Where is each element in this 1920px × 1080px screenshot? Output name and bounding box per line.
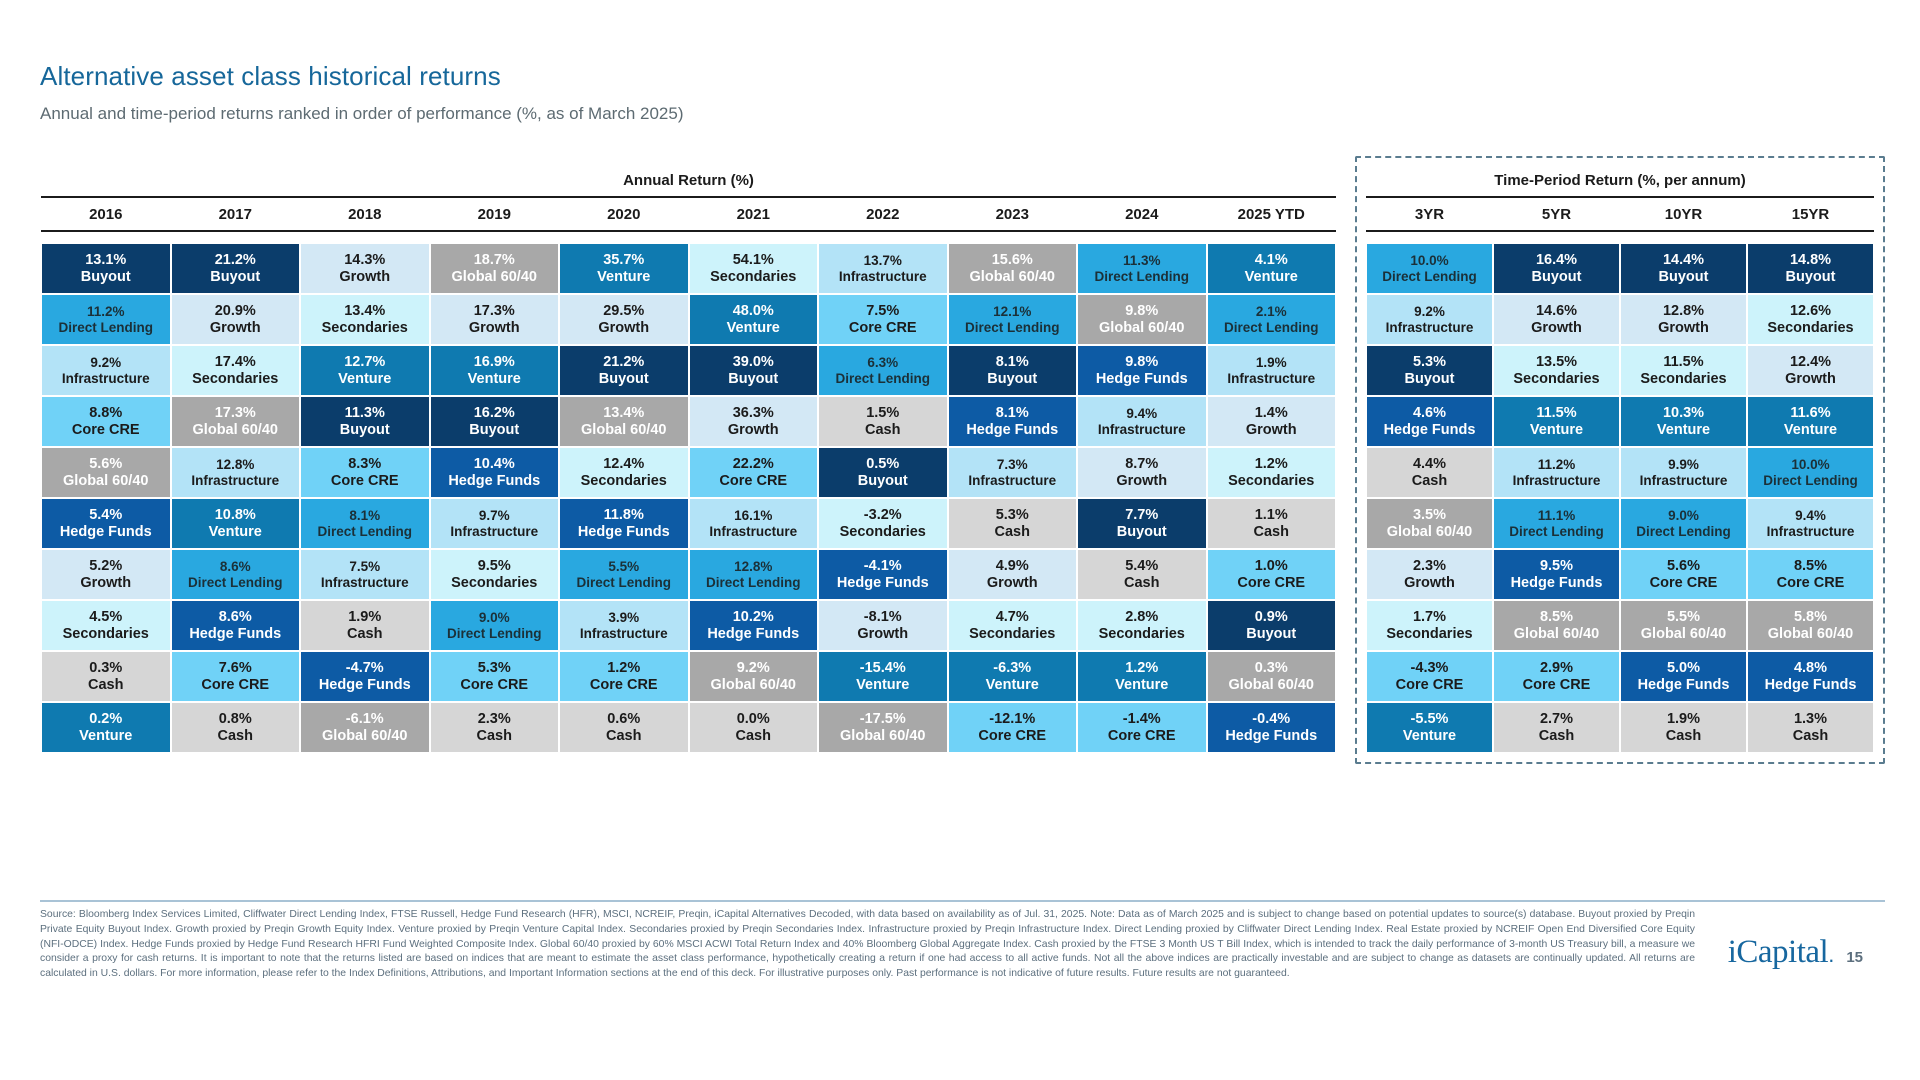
return-cell-2018-core-cre: 8.3%Core CRE [300, 447, 430, 498]
cell-value: 7.5% [302, 559, 428, 574]
return-cell-2018-infrastructure: 7.5%Infrastructure [300, 549, 430, 600]
cell-value: -6.3% [950, 660, 1076, 677]
return-cell-2017-global-60-40: 17.3%Global 60/40 [171, 396, 301, 447]
cell-value: 8.7% [1079, 456, 1205, 473]
cell-value: -6.1% [302, 711, 428, 728]
cell-asset-label: Growth [561, 320, 687, 337]
cell-value: 8.1% [950, 405, 1076, 422]
return-cell-2016-growth: 5.2%Growth [41, 549, 171, 600]
return-cell-2023-direct-lending: 12.1%Direct Lending [948, 294, 1078, 345]
return-cell-2025-ytd-global-60-40: 0.3%Global 60/40 [1207, 651, 1337, 702]
cell-value: 1.1% [1209, 507, 1335, 524]
cell-asset-label: Secondaries [820, 524, 946, 541]
return-cell-2016-venture: 0.2%Venture [41, 702, 171, 753]
cell-value: 5.6% [1622, 558, 1745, 575]
return-cell-2020-infrastructure: 3.9%Infrastructure [559, 600, 689, 651]
cell-asset-label: Infrastructure [173, 473, 299, 488]
return-cell-2024-venture: 1.2%Venture [1077, 651, 1207, 702]
cell-asset-label: Buyout [691, 371, 817, 388]
cell-value: 12.6% [1749, 303, 1872, 320]
cell-asset-label: Cash [302, 626, 428, 643]
return-cell-2020-venture: 35.7%Venture [559, 243, 689, 294]
cell-value: 1.3% [1749, 711, 1872, 728]
cell-asset-label: Core CRE [820, 320, 946, 337]
return-cell-2017-growth: 20.9%Growth [171, 294, 301, 345]
cell-value: 1.2% [1209, 456, 1335, 473]
cell-asset-label: Direct Lending [1749, 473, 1872, 488]
return-cell-3yr-infrastructure: 9.2%Infrastructure [1366, 294, 1493, 345]
return-cell-2021-infrastructure: 16.1%Infrastructure [689, 498, 819, 549]
return-cell-2024-direct-lending: 11.3%Direct Lending [1077, 243, 1207, 294]
cell-asset-label: Core CRE [1622, 575, 1745, 592]
spacer-cell [1366, 231, 1874, 243]
cell-value: 12.8% [1622, 303, 1745, 320]
cell-asset-label: Buyout [43, 269, 169, 286]
cell-asset-label: Growth [432, 320, 558, 337]
cell-value: 6.3% [820, 355, 946, 370]
return-cell-2025-ytd-growth: 1.4%Growth [1207, 396, 1337, 447]
cell-asset-label: Core CRE [1368, 677, 1491, 694]
return-cell-2021-direct-lending: 12.8%Direct Lending [689, 549, 819, 600]
return-cell-2018-secondaries: 13.4%Secondaries [300, 294, 430, 345]
cell-asset-label: Direct Lending [43, 320, 169, 335]
cell-value: 4.4% [1368, 456, 1491, 473]
cell-asset-label: Venture [1079, 677, 1205, 694]
cell-asset-label: Venture [43, 728, 169, 745]
cell-value: 12.4% [561, 456, 687, 473]
spacer-cell [41, 231, 1336, 243]
return-cell-2025-ytd-secondaries: 1.2%Secondaries [1207, 447, 1337, 498]
tables-container: Annual Return (%) 2016201720182019202020… [40, 172, 1885, 764]
return-cell-2021-global-60-40: 9.2%Global 60/40 [689, 651, 819, 702]
return-cell-2020-cash: 0.6%Cash [559, 702, 689, 753]
cell-asset-label: Venture [1209, 269, 1335, 286]
cell-asset-label: Cash [1749, 728, 1872, 745]
return-cell-2018-cash: 1.9%Cash [300, 600, 430, 651]
return-cell-2025-ytd-cash: 1.1%Cash [1207, 498, 1337, 549]
table-row: 5.3%Buyout13.5%Secondaries11.5%Secondari… [1366, 345, 1874, 396]
cell-asset-label: Growth [950, 575, 1076, 592]
cell-value: 1.2% [561, 660, 687, 677]
cell-asset-label: Venture [1495, 422, 1618, 439]
return-cell-2025-ytd-buyout: 0.9%Buyout [1207, 600, 1337, 651]
cell-value: 21.2% [173, 252, 299, 269]
cell-value: 9.0% [1622, 508, 1745, 523]
cell-value: 9.4% [1749, 508, 1872, 523]
return-cell-2022-core-cre: 7.5%Core CRE [818, 294, 948, 345]
cell-asset-label: Growth [820, 626, 946, 643]
cell-value: 5.6% [43, 456, 169, 473]
column-header-2024: 2024 [1077, 197, 1207, 231]
cell-asset-label: Venture [1368, 728, 1491, 745]
cell-asset-label: Venture [1749, 422, 1872, 439]
cell-asset-label: Infrastructure [1079, 422, 1205, 437]
cell-value: 39.0% [691, 354, 817, 371]
cell-value: -12.1% [950, 711, 1076, 728]
cell-asset-label: Secondaries [1749, 320, 1872, 337]
return-cell-2025-ytd-direct-lending: 2.1%Direct Lending [1207, 294, 1337, 345]
cell-asset-label: Infrastructure [950, 473, 1076, 488]
cell-value: 5.4% [43, 507, 169, 524]
cell-asset-label: Venture [1622, 422, 1745, 439]
column-header-2022: 2022 [818, 197, 948, 231]
return-cell-2020-global-60-40: 13.4%Global 60/40 [559, 396, 689, 447]
return-cell-2019-cash: 2.3%Cash [430, 702, 560, 753]
return-cell-2022-global-60-40: -17.5%Global 60/40 [818, 702, 948, 753]
header: Alternative asset class historical retur… [40, 62, 684, 123]
cell-asset-label: Buyout [1079, 524, 1205, 541]
cell-value: -4.1% [820, 558, 946, 575]
header-spacer-row [41, 231, 1336, 243]
table-row: 11.2%Direct Lending20.9%Growth13.4%Secon… [41, 294, 1336, 345]
return-cell-2023-growth: 4.9%Growth [948, 549, 1078, 600]
table-row: 9.2%Infrastructure17.4%Secondaries12.7%V… [41, 345, 1336, 396]
return-cell-3yr-cash: 4.4%Cash [1366, 447, 1493, 498]
cell-asset-label: Infrastructure [1368, 320, 1491, 335]
return-cell-2022-buyout: 0.5%Buyout [818, 447, 948, 498]
cell-asset-label: Growth [1209, 422, 1335, 439]
column-header-3yr: 3YR [1366, 197, 1493, 231]
return-cell-3yr-global-60-40: 3.5%Global 60/40 [1366, 498, 1493, 549]
annual-header-row: 2016201720182019202020212022202320242025… [41, 197, 1336, 231]
table-row: 5.2%Growth8.6%Direct Lending7.5%Infrastr… [41, 549, 1336, 600]
footer-divider [40, 900, 1885, 902]
column-header-2017: 2017 [171, 197, 301, 231]
return-cell-2017-cash: 0.8%Cash [171, 702, 301, 753]
cell-value: 1.9% [1622, 711, 1745, 728]
cell-value: 11.2% [1495, 457, 1618, 472]
return-cell-2020-growth: 29.5%Growth [559, 294, 689, 345]
cell-value: 9.9% [1622, 457, 1745, 472]
cell-value: 5.0% [1622, 660, 1745, 677]
column-header-2021: 2021 [689, 197, 819, 231]
cell-asset-label: Venture [432, 371, 558, 388]
cell-asset-label: Growth [302, 269, 428, 286]
cell-asset-label: Growth [1079, 473, 1205, 490]
return-cell-2024-hedge-funds: 9.8%Hedge Funds [1077, 345, 1207, 396]
cell-value: -4.3% [1368, 660, 1491, 677]
cell-asset-label: Global 60/40 [1209, 677, 1335, 694]
cell-asset-label: Growth [173, 320, 299, 337]
cell-asset-label: Growth [691, 422, 817, 439]
cell-value: 20.9% [173, 303, 299, 320]
cell-value: 11.3% [1079, 253, 1205, 268]
cell-value: 2.1% [1209, 304, 1335, 319]
cell-value: 3.9% [561, 610, 687, 625]
return-cell-2019-infrastructure: 9.7%Infrastructure [430, 498, 560, 549]
cell-value: 2.3% [432, 711, 558, 728]
cell-asset-label: Global 60/40 [1749, 626, 1872, 643]
cell-value: 7.3% [950, 457, 1076, 472]
return-cell-2022-venture: -15.4%Venture [818, 651, 948, 702]
cell-value: 10.4% [432, 456, 558, 473]
cell-asset-label: Core CRE [43, 422, 169, 439]
table-row: -5.5%Venture2.7%Cash1.9%Cash1.3%Cash [1366, 702, 1874, 753]
page-number: 15 [1846, 949, 1863, 966]
return-cell-2017-direct-lending: 8.6%Direct Lending [171, 549, 301, 600]
cell-value: 4.1% [1209, 252, 1335, 269]
cell-value: 9.0% [432, 610, 558, 625]
cell-asset-label: Infrastructure [820, 269, 946, 284]
cell-value: 48.0% [691, 303, 817, 320]
cell-value: 12.8% [173, 457, 299, 472]
cell-value: 0.9% [1209, 609, 1335, 626]
cell-value: -4.7% [302, 660, 428, 677]
return-cell-3yr-core-cre: -4.3%Core CRE [1366, 651, 1493, 702]
cell-asset-label: Secondaries [691, 269, 817, 286]
cell-asset-label: Hedge Funds [43, 524, 169, 541]
return-cell-2022-secondaries: -3.2%Secondaries [818, 498, 948, 549]
cell-asset-label: Direct Lending [302, 524, 428, 539]
cell-asset-label: Global 60/40 [691, 677, 817, 694]
cell-value: -8.1% [820, 609, 946, 626]
return-cell-2020-hedge-funds: 11.8%Hedge Funds [559, 498, 689, 549]
cell-value: 9.2% [691, 660, 817, 677]
return-cell-2020-core-cre: 1.2%Core CRE [559, 651, 689, 702]
cell-asset-label: Infrastructure [691, 524, 817, 539]
return-cell-15yr-global-60-40: 5.8%Global 60/40 [1747, 600, 1874, 651]
cell-asset-label: Cash [561, 728, 687, 745]
return-cell-5yr-secondaries: 13.5%Secondaries [1493, 345, 1620, 396]
cell-asset-label: Infrastructure [302, 575, 428, 590]
cell-asset-label: Cash [1209, 524, 1335, 541]
cell-asset-label: Hedge Funds [1368, 422, 1491, 439]
return-cell-2023-global-60-40: 15.6%Global 60/40 [948, 243, 1078, 294]
cell-asset-label: Global 60/40 [302, 728, 428, 745]
cell-asset-label: Global 60/40 [950, 269, 1076, 286]
cell-value: 8.1% [302, 508, 428, 523]
time-period-return-heading: Time-Period Return (%, per annum) [1365, 164, 1875, 196]
return-cell-2016-buyout: 13.1%Buyout [41, 243, 171, 294]
return-cell-2022-infrastructure: 13.7%Infrastructure [818, 243, 948, 294]
table-row: 0.3%Cash7.6%Core CRE-4.7%Hedge Funds5.3%… [41, 651, 1336, 702]
return-cell-2022-cash: 1.5%Cash [818, 396, 948, 447]
cell-asset-label: Core CRE [1079, 728, 1205, 745]
cell-value: 7.5% [820, 303, 946, 320]
cell-value: 12.7% [302, 354, 428, 371]
column-header-2019: 2019 [430, 197, 560, 231]
return-cell-2023-infrastructure: 7.3%Infrastructure [948, 447, 1078, 498]
cell-asset-label: Buyout [1495, 269, 1618, 286]
cell-value: 10.0% [1368, 253, 1491, 268]
column-header-2018: 2018 [300, 197, 430, 231]
cell-value: 0.5% [820, 456, 946, 473]
cell-value: 11.6% [1749, 405, 1872, 422]
cell-value: 9.2% [1368, 304, 1491, 319]
cell-value: 5.3% [950, 507, 1076, 524]
cell-value: 1.2% [1079, 660, 1205, 677]
return-cell-5yr-direct-lending: 11.1%Direct Lending [1493, 498, 1620, 549]
return-cell-2017-secondaries: 17.4%Secondaries [171, 345, 301, 396]
cell-asset-label: Hedge Funds [1079, 371, 1205, 388]
cell-value: 14.8% [1749, 252, 1872, 269]
cell-asset-label: Infrastructure [1495, 473, 1618, 488]
cell-asset-label: Direct Lending [173, 575, 299, 590]
icapital-logo: iCapital [1728, 936, 1828, 969]
return-cell-10yr-buyout: 14.4%Buyout [1620, 243, 1747, 294]
cell-value: 11.3% [302, 405, 428, 422]
cell-asset-label: Core CRE [1209, 575, 1335, 592]
cell-value: 35.7% [561, 252, 687, 269]
return-cell-2019-secondaries: 9.5%Secondaries [430, 549, 560, 600]
cell-value: 10.3% [1622, 405, 1745, 422]
return-cell-2019-core-cre: 5.3%Core CRE [430, 651, 560, 702]
cell-value: 12.8% [691, 559, 817, 574]
cell-value: 22.2% [691, 456, 817, 473]
return-cell-5yr-buyout: 16.4%Buyout [1493, 243, 1620, 294]
cell-asset-label: Global 60/40 [1495, 626, 1618, 643]
cell-value: 14.6% [1495, 303, 1618, 320]
cell-value: 8.5% [1495, 609, 1618, 626]
cell-value: 1.7% [1368, 609, 1491, 626]
column-header-2020: 2020 [559, 197, 689, 231]
return-cell-2024-global-60-40: 9.8%Global 60/40 [1077, 294, 1207, 345]
period-table-body: 10.0%Direct Lending16.4%Buyout14.4%Buyou… [1366, 231, 1874, 753]
cell-asset-label: Growth [43, 575, 169, 592]
return-cell-2024-core-cre: -1.4%Core CRE [1077, 702, 1207, 753]
cell-value: 0.3% [43, 660, 169, 677]
cell-value: 1.5% [820, 405, 946, 422]
table-row: 13.1%Buyout21.2%Buyout14.3%Growth18.7%Gl… [41, 243, 1336, 294]
cell-asset-label: Core CRE [1749, 575, 1872, 592]
cell-value: 15.6% [950, 252, 1076, 269]
cell-value: 13.5% [1495, 354, 1618, 371]
return-cell-2017-infrastructure: 12.8%Infrastructure [171, 447, 301, 498]
cell-value: 3.5% [1368, 507, 1491, 524]
cell-value: -3.2% [820, 507, 946, 524]
cell-value: -15.4% [820, 660, 946, 677]
cell-value: 11.5% [1495, 405, 1618, 422]
cell-asset-label: Secondaries [1368, 626, 1491, 643]
cell-value: 5.2% [43, 558, 169, 575]
cell-value: -0.4% [1209, 711, 1335, 728]
return-cell-2018-growth: 14.3%Growth [300, 243, 430, 294]
return-cell-2023-venture: -6.3%Venture [948, 651, 1078, 702]
return-cell-2018-buyout: 11.3%Buyout [300, 396, 430, 447]
cell-value: 1.9% [1209, 355, 1335, 370]
cell-asset-label: Buyout [561, 371, 687, 388]
cell-asset-label: Venture [950, 677, 1076, 694]
return-cell-2025-ytd-infrastructure: 1.9%Infrastructure [1207, 345, 1337, 396]
cell-value: 16.1% [691, 508, 817, 523]
cell-asset-label: Cash [950, 524, 1076, 541]
cell-value: 13.4% [302, 303, 428, 320]
cell-value: 0.6% [561, 711, 687, 728]
cell-value: 5.8% [1749, 609, 1872, 626]
return-cell-5yr-venture: 11.5%Venture [1493, 396, 1620, 447]
cell-value: 12.4% [1749, 354, 1872, 371]
return-cell-2023-cash: 5.3%Cash [948, 498, 1078, 549]
footer-content: Source: Bloomberg Index Services Limited… [40, 908, 1885, 982]
cell-value: 5.3% [1368, 354, 1491, 371]
cell-asset-label: Direct Lending [1368, 269, 1491, 284]
cell-value: 14.4% [1622, 252, 1745, 269]
cell-asset-label: Venture [302, 371, 428, 388]
return-cell-10yr-venture: 10.3%Venture [1620, 396, 1747, 447]
return-cell-10yr-direct-lending: 9.0%Direct Lending [1620, 498, 1747, 549]
cell-value: 9.8% [1079, 303, 1205, 320]
cell-asset-label: Global 60/40 [43, 473, 169, 490]
cell-asset-label: Secondaries [173, 371, 299, 388]
return-cell-10yr-secondaries: 11.5%Secondaries [1620, 345, 1747, 396]
cell-asset-label: Cash [691, 728, 817, 745]
cell-value: -1.4% [1079, 711, 1205, 728]
cell-value: 1.9% [302, 609, 428, 626]
return-cell-2024-growth: 8.7%Growth [1077, 447, 1207, 498]
return-cell-15yr-growth: 12.4%Growth [1747, 345, 1874, 396]
cell-asset-label: Cash [820, 422, 946, 439]
cell-value: 12.1% [950, 304, 1076, 319]
cell-value: 9.5% [1495, 558, 1618, 575]
return-cell-2017-venture: 10.8%Venture [171, 498, 301, 549]
table-row: 2.3%Growth9.5%Hedge Funds5.6%Core CRE8.5… [1366, 549, 1874, 600]
table-row: -4.3%Core CRE2.9%Core CRE5.0%Hedge Funds… [1366, 651, 1874, 702]
return-cell-2022-growth: -8.1%Growth [818, 600, 948, 651]
time-period-return-table: 3YR5YR10YR15YR 10.0%Direct Lending16.4%B… [1365, 196, 1875, 754]
period-header-row: 3YR5YR10YR15YR [1366, 197, 1874, 231]
cell-value: 0.8% [173, 711, 299, 728]
cell-value: 4.8% [1749, 660, 1872, 677]
cell-value: 17.3% [432, 303, 558, 320]
cell-value: 17.3% [173, 405, 299, 422]
return-cell-2019-growth: 17.3%Growth [430, 294, 560, 345]
table-row: 3.5%Global 60/4011.1%Direct Lending9.0%D… [1366, 498, 1874, 549]
cell-asset-label: Core CRE [173, 677, 299, 694]
return-cell-5yr-core-cre: 2.9%Core CRE [1493, 651, 1620, 702]
cell-value: 13.4% [561, 405, 687, 422]
cell-asset-label: Hedge Funds [1495, 575, 1618, 592]
cell-asset-label: Buyout [950, 371, 1076, 388]
return-cell-15yr-infrastructure: 9.4%Infrastructure [1747, 498, 1874, 549]
return-cell-10yr-global-60-40: 5.5%Global 60/40 [1620, 600, 1747, 651]
cell-value: 2.8% [1079, 609, 1205, 626]
cell-asset-label: Core CRE [561, 677, 687, 694]
return-cell-5yr-growth: 14.6%Growth [1493, 294, 1620, 345]
cell-asset-label: Venture [820, 677, 946, 694]
return-cell-3yr-buyout: 5.3%Buyout [1366, 345, 1493, 396]
return-cell-2023-secondaries: 4.7%Secondaries [948, 600, 1078, 651]
cell-asset-label: Global 60/40 [820, 728, 946, 745]
table-row: 5.6%Global 60/4012.8%Infrastructure8.3%C… [41, 447, 1336, 498]
cell-asset-label: Buyout [1209, 626, 1335, 643]
cell-asset-label: Cash [1622, 728, 1745, 745]
cell-asset-label: Direct Lending [432, 626, 558, 641]
cell-asset-label: Global 60/40 [561, 422, 687, 439]
cell-value: 2.3% [1368, 558, 1491, 575]
return-cell-2019-buyout: 16.2%Buyout [430, 396, 560, 447]
cell-asset-label: Direct Lending [1622, 524, 1745, 539]
cell-asset-label: Direct Lending [561, 575, 687, 590]
return-cell-3yr-direct-lending: 10.0%Direct Lending [1366, 243, 1493, 294]
return-cell-2021-growth: 36.3%Growth [689, 396, 819, 447]
table-row: 0.2%Venture0.8%Cash-6.1%Global 60/402.3%… [41, 702, 1336, 753]
cell-value: 8.6% [173, 559, 299, 574]
cell-asset-label: Cash [43, 677, 169, 694]
return-cell-2019-hedge-funds: 10.4%Hedge Funds [430, 447, 560, 498]
cell-value: 10.2% [691, 609, 817, 626]
return-cell-5yr-infrastructure: 11.2%Infrastructure [1493, 447, 1620, 498]
source-note: Source: Bloomberg Index Services Limited… [40, 908, 1695, 982]
cell-value: 11.1% [1495, 508, 1618, 523]
return-cell-2018-global-60-40: -6.1%Global 60/40 [300, 702, 430, 753]
cell-asset-label: Buyout [1622, 269, 1745, 286]
return-cell-2019-venture: 16.9%Venture [430, 345, 560, 396]
return-cell-15yr-core-cre: 8.5%Core CRE [1747, 549, 1874, 600]
return-cell-3yr-hedge-funds: 4.6%Hedge Funds [1366, 396, 1493, 447]
table-row: 8.8%Core CRE17.3%Global 60/4011.3%Buyout… [41, 396, 1336, 447]
cell-value: 4.6% [1368, 405, 1491, 422]
cell-asset-label: Secondaries [1495, 371, 1618, 388]
